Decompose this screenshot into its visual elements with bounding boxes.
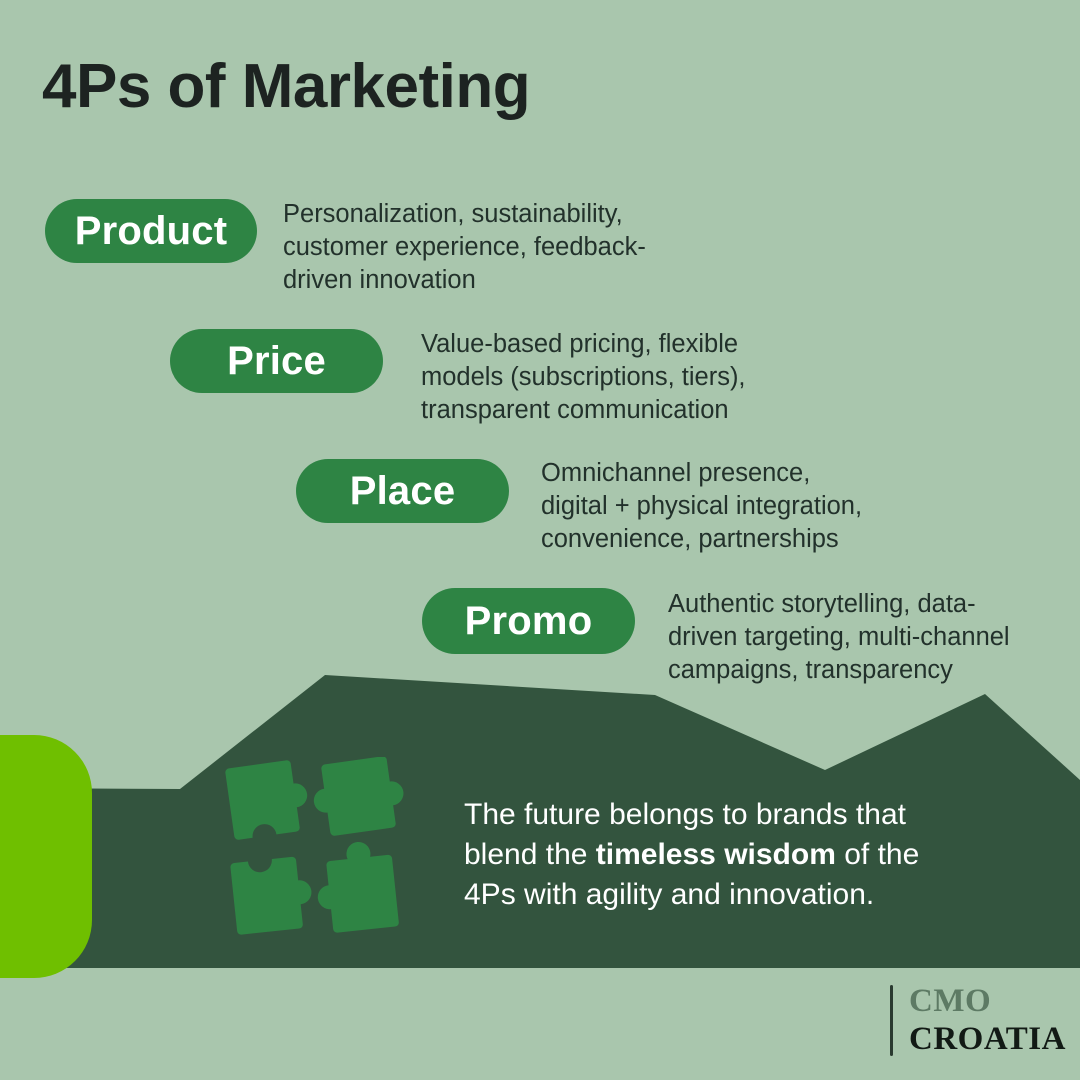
description-place: Omnichannel presence, digital + physical… xyxy=(541,457,862,556)
pill-price[interactable]: Price xyxy=(170,329,383,393)
logo-line-cmo: CMO xyxy=(909,985,1066,1018)
description-price: Value-based pricing, flexible models (su… xyxy=(421,328,746,427)
quote-text: The future belongs to brands that blend … xyxy=(464,795,964,915)
page-title: 4Ps of Marketing xyxy=(42,54,530,119)
marketing-p-row-price: Price Value-based pricing, flexible mode… xyxy=(170,329,746,427)
description-product: Personalization, sustainability, custome… xyxy=(283,198,646,297)
logo-line-croatia: CROATIA xyxy=(909,1023,1066,1056)
pill-promo[interactable]: Promo xyxy=(422,588,635,654)
brand-logo: CMO CROATIA xyxy=(890,985,1066,1056)
logo-divider xyxy=(890,985,893,1056)
logo-text: CMO CROATIA xyxy=(909,985,1066,1056)
puzzle-pieces-icon xyxy=(222,757,422,947)
marketing-p-row-product: Product Personalization, sustainability,… xyxy=(45,199,646,297)
marketing-p-row-place: Place Omnichannel presence, digital + ph… xyxy=(296,459,862,556)
quote-emphasis: timeless wisdom xyxy=(596,838,836,871)
infographic-canvas: 4Ps of Marketing Product Personalization… xyxy=(0,0,1080,1080)
pill-product[interactable]: Product xyxy=(45,199,257,263)
pill-place[interactable]: Place xyxy=(296,459,509,523)
lime-accent-block xyxy=(0,735,92,978)
